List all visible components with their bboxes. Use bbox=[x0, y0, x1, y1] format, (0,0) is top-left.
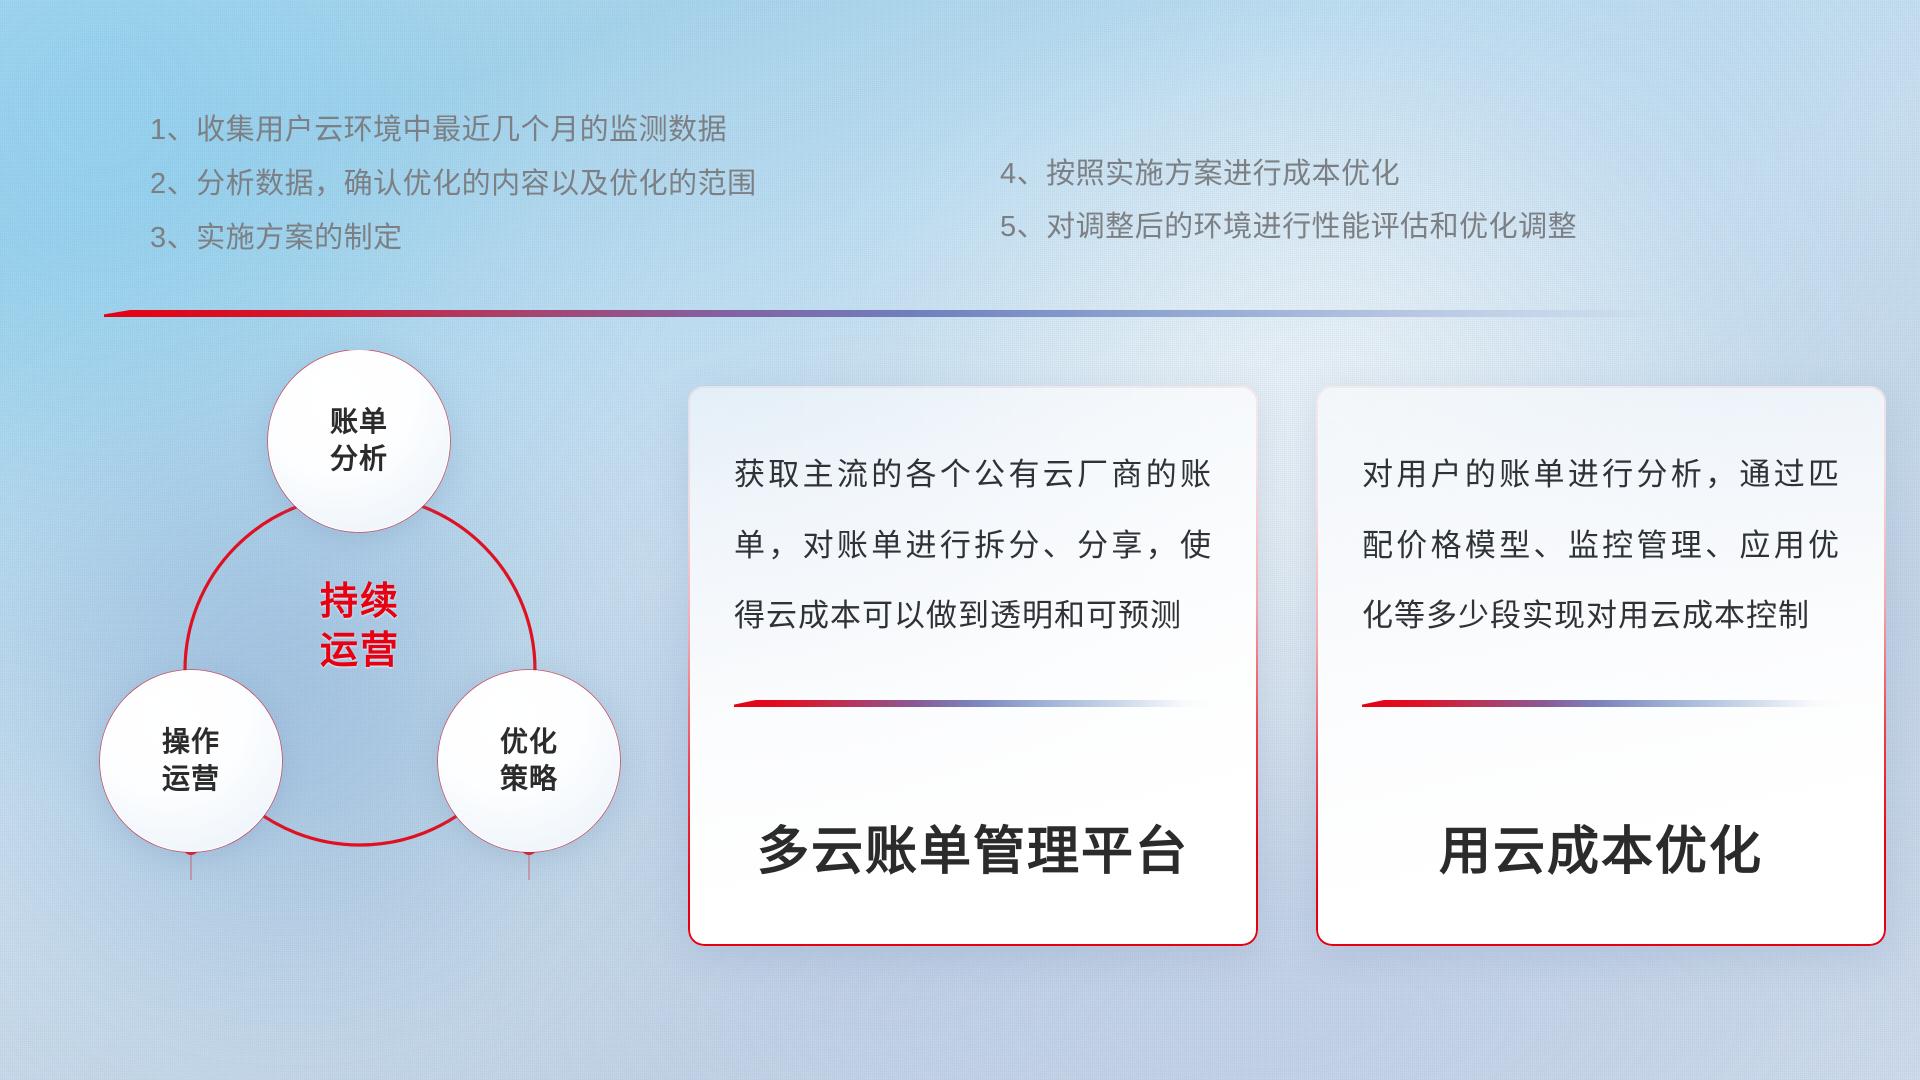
process-steps-column-right: 4、按照实施方案进行成本优化 5、对调整后的环境进行性能评估和优化调整 bbox=[1000, 116, 1800, 278]
feature-cards: 获取主流的各个公有云厂商的账单，对账单进行拆分、分享，使得云成本可以做到透明和可… bbox=[688, 386, 1886, 946]
step-item-2: 2、分析数据，确认优化的内容以及优化的范围 bbox=[150, 170, 1000, 199]
header-gradient-divider bbox=[104, 310, 1664, 317]
step-item-1: 1、收集用户云环境中最近几个月的监测数据 bbox=[150, 116, 1000, 145]
step-item-5: 5、对调整后的环境进行性能评估和优化调整 bbox=[1000, 213, 1800, 242]
venn-bubble-optimization-policy[interactable]: 优化 策略 bbox=[438, 670, 620, 852]
step-item-4: 4、按照实施方案进行成本优化 bbox=[1000, 160, 1800, 189]
feature-card-divider-1 bbox=[734, 700, 1212, 707]
feature-card-divider-2 bbox=[1362, 700, 1840, 707]
venn-bubble-bill-analysis[interactable]: 账单 分析 bbox=[268, 350, 450, 532]
venn-bubble-optimization-policy-line1: 优化 bbox=[500, 724, 558, 761]
venn-bubble-bill-analysis-line1: 账单 bbox=[330, 404, 388, 441]
continuous-operation-venn-diagram: 账单 分析 操作 运营 优化 策略 持续 运营 bbox=[90, 350, 670, 970]
venn-bubble-optimization-policy-line2: 策略 bbox=[500, 761, 558, 798]
venn-bubble-operation-ops-line2: 运营 bbox=[162, 761, 220, 798]
step-item-3: 3、实施方案的制定 bbox=[150, 224, 1000, 253]
feature-card-multi-cloud-billing-platform[interactable]: 获取主流的各个公有云厂商的账单，对账单进行拆分、分享，使得云成本可以做到透明和可… bbox=[688, 386, 1258, 946]
venn-center-label-line1: 持续 bbox=[260, 578, 460, 627]
venn-center-label-line2: 运营 bbox=[260, 627, 460, 676]
feature-card-title-2: 用云成本优化 bbox=[1362, 809, 1840, 946]
venn-bubble-operation-ops-line1: 操作 bbox=[162, 724, 220, 761]
venn-center-label: 持续 运营 bbox=[260, 578, 460, 675]
feature-card-body-1: 获取主流的各个公有云厂商的账单，对账单进行拆分、分享，使得云成本可以做到透明和可… bbox=[734, 440, 1212, 652]
feature-card-body-2: 对用户的账单进行分析，通过匹配价格模型、监控管理、应用优化等多少段实现对用云成本… bbox=[1362, 440, 1840, 652]
venn-bubble-operation-ops[interactable]: 操作 运营 bbox=[100, 670, 282, 852]
feature-card-title-1: 多云账单管理平台 bbox=[734, 809, 1212, 946]
venn-bubble-bill-analysis-line2: 分析 bbox=[330, 441, 388, 478]
process-steps-list: 1、收集用户云环境中最近几个月的监测数据 2、分析数据，确认优化的内容以及优化的… bbox=[150, 116, 1850, 278]
process-steps-column-left: 1、收集用户云环境中最近几个月的监测数据 2、分析数据，确认优化的内容以及优化的… bbox=[150, 116, 1000, 278]
feature-card-cloud-cost-optimization[interactable]: 对用户的账单进行分析，通过匹配价格模型、监控管理、应用优化等多少段实现对用云成本… bbox=[1316, 386, 1886, 946]
